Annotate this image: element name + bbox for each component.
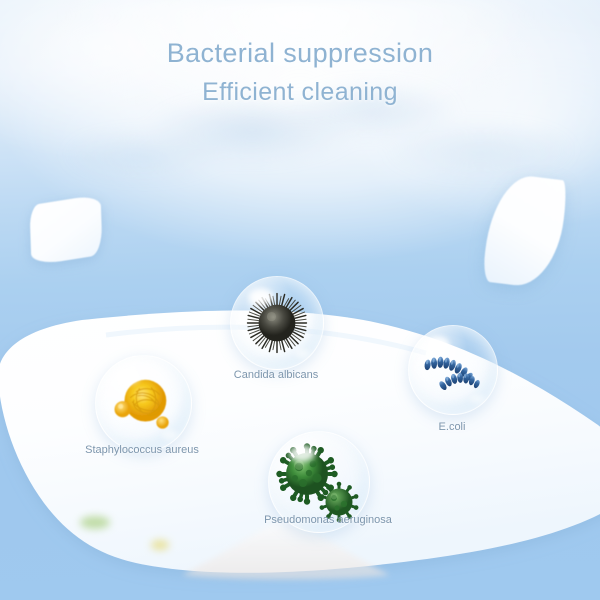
candida-albicans-icon bbox=[231, 277, 323, 369]
headline-line-1: Bacterial suppression bbox=[0, 34, 600, 74]
caption-candida-albicans: Candida albicans bbox=[203, 369, 349, 381]
yellow-smudge-1 bbox=[151, 540, 169, 550]
bubble-candida-albicans[interactable] bbox=[230, 276, 324, 370]
poster-canvas: Bacterial suppression Efficient cleaning bbox=[0, 0, 600, 600]
floating-wipe-left bbox=[29, 194, 102, 266]
caption-e-coli: E.coli bbox=[412, 421, 492, 433]
bubble-staphylococcus-aureus[interactable] bbox=[95, 355, 192, 452]
headline-line-2: Efficient cleaning bbox=[0, 74, 600, 111]
bubble-e-coli[interactable] bbox=[408, 325, 498, 415]
caption-staphylococcus-aureus: Staphylococcus aureus bbox=[62, 444, 222, 456]
caption-pseudomonas-aeruginosa: Pseudomonas aeruginosa bbox=[243, 514, 413, 526]
green-smudge-1 bbox=[80, 516, 110, 529]
staphylococcus-aureus-icon bbox=[96, 356, 191, 451]
floating-wipe-right bbox=[482, 172, 569, 290]
page-title: Bacterial suppression Efficient cleaning bbox=[0, 34, 600, 111]
e-coli-icon bbox=[409, 326, 497, 414]
